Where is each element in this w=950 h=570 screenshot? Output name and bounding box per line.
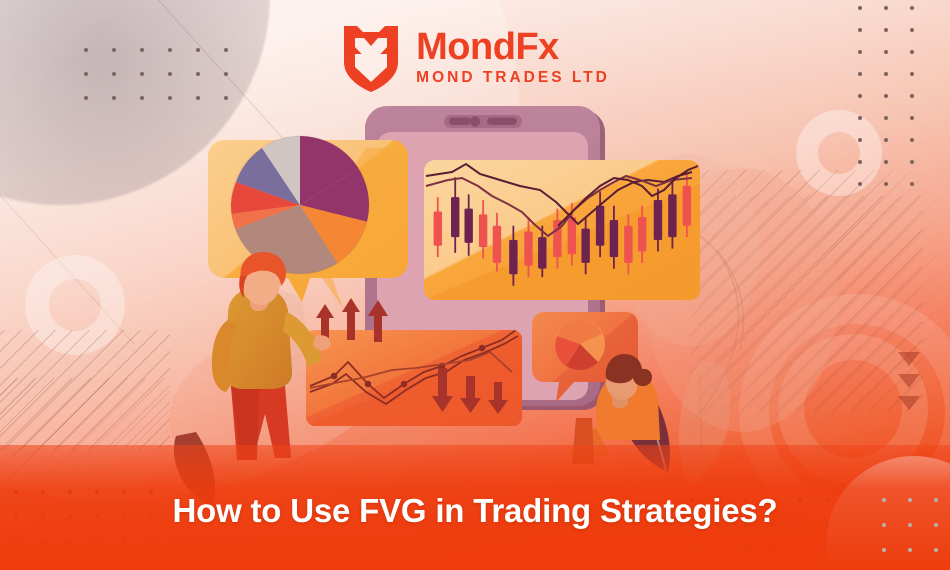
small-pie-bubble <box>532 312 638 402</box>
down-arrow-group <box>432 368 508 414</box>
brand-subtitle: MOND TRADES LTD <box>416 70 610 86</box>
pie-chart-small <box>555 319 605 370</box>
page-title: How to Use FVG in Trading Strategies? <box>0 492 950 530</box>
brand-logo[interactable]: MondFx MOND TRADES LTD <box>0 22 950 92</box>
article-banner: MondFx MOND TRADES LTD How to Use FVG in… <box>0 0 950 570</box>
brand-wordmark: MondFx MOND TRADES LTD <box>416 28 610 86</box>
stripe-patch-mid-left <box>0 330 170 450</box>
mondfx-shield-logo-icon <box>340 22 402 92</box>
stripe-patch-hero <box>698 196 923 411</box>
brand-name: MondFx <box>416 28 610 66</box>
